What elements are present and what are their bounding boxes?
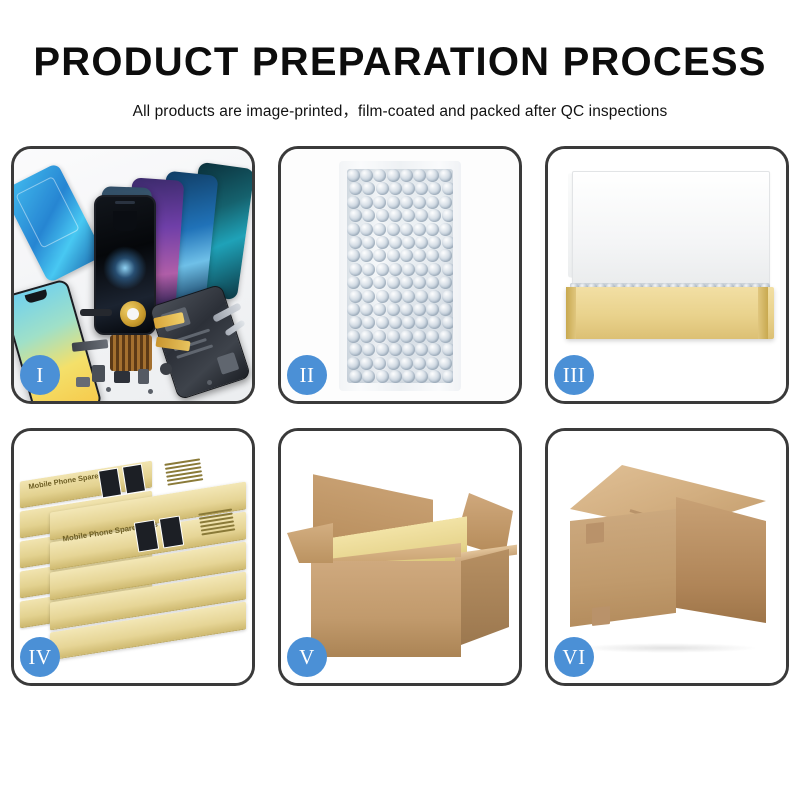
bubble xyxy=(426,223,439,236)
bubble xyxy=(347,276,360,289)
small-part-1 xyxy=(92,365,105,382)
bubble xyxy=(400,357,413,370)
bubble xyxy=(428,209,441,222)
bubble xyxy=(376,182,389,195)
bubble xyxy=(415,316,428,329)
bubble xyxy=(428,182,441,195)
carton-shadow xyxy=(578,643,758,653)
step-badge-3: III xyxy=(554,355,594,395)
bubble xyxy=(389,370,402,383)
bubble xyxy=(400,223,413,236)
bubble xyxy=(442,182,453,195)
bubble xyxy=(402,290,415,303)
bubble xyxy=(426,303,439,316)
product-preparation-process-page: PRODUCT PREPARATION PROCESS All products… xyxy=(0,0,800,800)
screen-glow xyxy=(103,246,147,290)
bubble xyxy=(400,169,413,182)
process-step-3[interactable]: III xyxy=(545,146,789,404)
bubble xyxy=(439,249,452,262)
bubble xyxy=(428,290,441,303)
screw-dot-1 xyxy=(106,387,111,392)
bubble xyxy=(387,169,400,182)
bubble xyxy=(360,223,373,236)
phone-earpiece xyxy=(115,201,135,204)
carton-side-panel xyxy=(461,549,509,645)
bubble xyxy=(439,357,452,370)
small-part-4 xyxy=(160,363,172,375)
bubble xyxy=(347,330,360,343)
bubble xyxy=(349,236,362,249)
bubble xyxy=(442,343,453,356)
process-step-2[interactable]: II xyxy=(278,146,522,404)
vibration-motor-part xyxy=(120,301,146,327)
step-badge-4: IV xyxy=(20,637,60,677)
bubble xyxy=(347,303,360,316)
bubble xyxy=(439,303,452,316)
bubble xyxy=(387,249,400,262)
bubble xyxy=(349,182,362,195)
bubble xyxy=(400,249,413,262)
box-screen-art-1 xyxy=(98,468,122,499)
bubble xyxy=(413,196,426,209)
bubble xyxy=(360,357,373,370)
bubble xyxy=(402,316,415,329)
process-step-6[interactable]: VI xyxy=(545,428,789,686)
box-lid-panel xyxy=(572,171,770,291)
bubble xyxy=(402,209,415,222)
bubble xyxy=(413,357,426,370)
step-badge-6: VI xyxy=(554,637,594,677)
bubble xyxy=(373,357,386,370)
box-base-kraft xyxy=(566,287,774,339)
bubble xyxy=(387,357,400,370)
bubble xyxy=(376,370,389,383)
carton-tape-tab-bottom xyxy=(592,606,610,626)
step-badge-2: II xyxy=(287,355,327,395)
process-step-5[interactable]: V xyxy=(278,428,522,686)
page-subtitle: All products are image-printed，film-coat… xyxy=(0,99,800,121)
bubble xyxy=(439,330,452,343)
bubble xyxy=(376,290,389,303)
ic-chip-part xyxy=(110,335,152,371)
box-screen-art-2 xyxy=(122,464,146,495)
page-header: PRODUCT PREPARATION PROCESS All products… xyxy=(0,0,800,121)
bubble xyxy=(402,343,415,356)
bubble-wrap-sheet xyxy=(347,169,453,383)
bubble xyxy=(426,196,439,209)
bubble xyxy=(415,343,428,356)
bubble xyxy=(415,370,428,383)
bubble xyxy=(349,209,362,222)
bubble xyxy=(349,370,362,383)
process-row-bottom: Mobile Phone Spare Parts Mobile Phone Sp… xyxy=(11,428,790,686)
bubble xyxy=(349,316,362,329)
bubble xyxy=(400,196,413,209)
bubble xyxy=(439,196,452,209)
process-step-grid: I II xyxy=(11,146,790,686)
bubble xyxy=(389,182,402,195)
bubble xyxy=(387,223,400,236)
bubble xyxy=(389,209,402,222)
antenna-part xyxy=(80,309,112,316)
bubble xyxy=(400,303,413,316)
bubble xyxy=(389,263,402,276)
bubble xyxy=(387,276,400,289)
bubble xyxy=(428,316,441,329)
bubble xyxy=(439,169,452,182)
small-part-5 xyxy=(76,377,90,387)
bubble xyxy=(415,182,428,195)
bubble xyxy=(376,343,389,356)
screw-dot-2 xyxy=(148,389,153,394)
bubble xyxy=(376,316,389,329)
bubble xyxy=(349,343,362,356)
bubble xyxy=(413,169,426,182)
bubble xyxy=(349,290,362,303)
bubble xyxy=(400,276,413,289)
bubble xyxy=(426,249,439,262)
screw-dot-3 xyxy=(207,380,212,385)
housing-speaker xyxy=(217,352,240,375)
step-badge-1: I xyxy=(20,355,60,395)
process-step-1[interactable]: I xyxy=(11,146,255,404)
box-screen-art-4 xyxy=(159,516,184,549)
bubble xyxy=(387,196,400,209)
bubble xyxy=(402,182,415,195)
bubble xyxy=(402,236,415,249)
page-title: PRODUCT PREPARATION PROCESS xyxy=(0,42,800,82)
bubble xyxy=(347,196,360,209)
bubble xyxy=(400,330,413,343)
bubble xyxy=(415,263,428,276)
bubble xyxy=(389,316,402,329)
bubble xyxy=(360,196,373,209)
bubble xyxy=(442,263,453,276)
bubble xyxy=(376,263,389,276)
bubble xyxy=(413,223,426,236)
bubble xyxy=(439,223,452,236)
carton-flap-left xyxy=(287,523,333,563)
step-badge-5: V xyxy=(287,637,327,677)
bubble xyxy=(415,209,428,222)
sealed-carton-side xyxy=(676,497,766,623)
bubble xyxy=(376,209,389,222)
bubble xyxy=(413,303,426,316)
bubble xyxy=(389,236,402,249)
bubble xyxy=(360,330,373,343)
adhesive-film-sheet xyxy=(14,163,104,284)
carton-tape-tab-top xyxy=(586,522,604,544)
bubble xyxy=(376,236,389,249)
bubble xyxy=(413,330,426,343)
bubble xyxy=(402,263,415,276)
process-row-top: I II xyxy=(11,146,790,404)
bubble xyxy=(415,290,428,303)
box-spec-text-2 xyxy=(198,508,235,538)
bubble xyxy=(387,330,400,343)
bubble xyxy=(428,263,441,276)
bubble xyxy=(415,236,428,249)
bubble xyxy=(426,330,439,343)
box-edge-right xyxy=(758,287,768,339)
bubble xyxy=(442,236,453,249)
small-part-3 xyxy=(138,369,149,384)
bubble xyxy=(413,276,426,289)
bubble xyxy=(426,276,439,289)
bubble xyxy=(347,223,360,236)
bubble xyxy=(442,316,453,329)
bubble xyxy=(389,290,402,303)
process-step-4[interactable]: Mobile Phone Spare Parts Mobile Phone Sp… xyxy=(11,428,255,686)
bubble xyxy=(428,370,441,383)
bubble xyxy=(413,249,426,262)
bubble xyxy=(389,343,402,356)
bubble xyxy=(428,343,441,356)
bubble xyxy=(442,290,453,303)
small-part-2 xyxy=(114,371,130,383)
bubble xyxy=(442,370,453,383)
bubble xyxy=(426,357,439,370)
bubble xyxy=(439,276,452,289)
bubble xyxy=(347,357,360,370)
bubble xyxy=(428,236,441,249)
bubble xyxy=(387,303,400,316)
bubble xyxy=(349,263,362,276)
carton-front-panel xyxy=(311,561,461,657)
bubble xyxy=(362,290,375,303)
bubble xyxy=(347,249,360,262)
bubble xyxy=(373,223,386,236)
bubble xyxy=(426,169,439,182)
box-edge-left xyxy=(566,287,576,339)
bubble xyxy=(442,209,453,222)
box-screen-art-3 xyxy=(134,520,159,553)
bubble xyxy=(402,370,415,383)
bubble xyxy=(347,169,360,182)
